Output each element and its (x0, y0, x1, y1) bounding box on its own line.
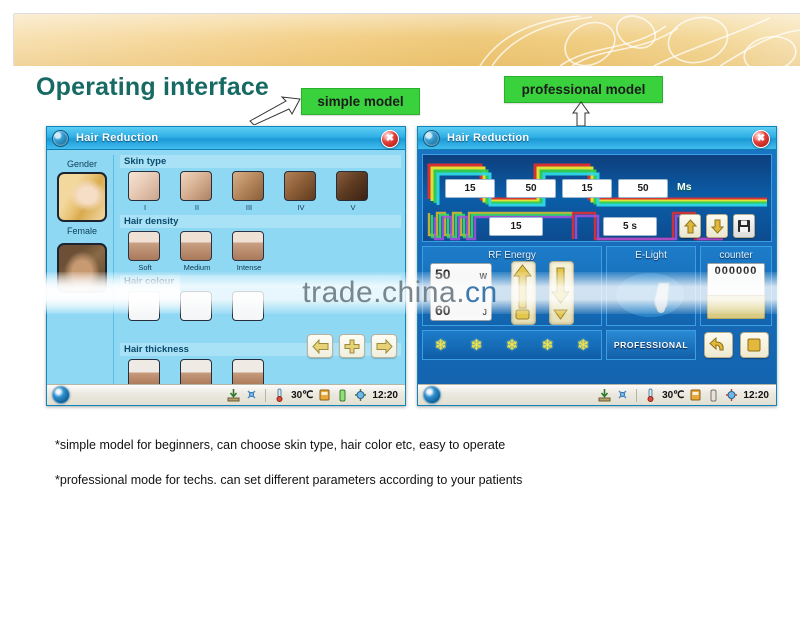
decrease-button[interactable] (706, 214, 728, 238)
skin-type-thumb-v (336, 171, 368, 201)
rf-energy-bottom-line: 60 J (435, 302, 487, 318)
undo-arrow-icon (709, 337, 727, 353)
professional-window-client: 15 50 15 50 Ms 15 5 s (418, 150, 776, 384)
description-text: *simple model for beginners, can choose … (55, 436, 655, 507)
previous-button[interactable] (307, 334, 333, 358)
close-icon[interactable]: ✖ (381, 130, 399, 148)
clock-readout: 12:20 (743, 390, 769, 401)
left-arrow-icon (312, 339, 329, 354)
arrow-to-simple-model-icon (248, 95, 304, 125)
hair-density-thumb-soft (128, 231, 160, 261)
start-orb-icon[interactable] (423, 386, 441, 404)
up-arrow-icon (684, 219, 697, 234)
header-decoration-band (14, 14, 800, 66)
pulse-unit-label: Ms (677, 181, 692, 193)
right-arrow-icon (376, 339, 393, 354)
plus-icon (344, 339, 360, 354)
skin-type-option[interactable]: IV (284, 171, 318, 212)
simple-window-client: Gender Female Skin type I II (47, 150, 405, 384)
simple-model-window: Hair Reduction ✖ Gender Female Skin type… (46, 126, 406, 406)
rf-energy-top-line: 50 W (435, 266, 487, 282)
snowflake-icon: ❄ (506, 338, 519, 353)
counter-title: counter (701, 247, 771, 261)
rf-energy-unit-bottom: J (483, 308, 487, 317)
counter-card: counter 000000 (700, 246, 772, 326)
skin-type-option[interactable]: V (336, 171, 370, 212)
simple-taskbar: 30℃ 12:20 (47, 384, 405, 405)
professional-window-titlebar: Hair Reduction ✖ (418, 127, 776, 150)
gender-label: Gender (67, 159, 97, 169)
section-heading-skin-type: Skin type (120, 155, 401, 168)
elight-card[interactable]: E-Light (606, 246, 696, 326)
ribbon-swirls-icon (440, 14, 800, 66)
counter-tray (707, 295, 765, 319)
pulse-value-2[interactable]: 50 (506, 179, 556, 198)
download-tray-icon[interactable] (227, 388, 240, 402)
hair-density-caption: Medium (180, 263, 214, 272)
repeat-value[interactable]: 15 (489, 217, 543, 236)
hair-density-option[interactable]: Intense (232, 231, 266, 272)
pulse-value-1[interactable]: 15 (445, 179, 495, 198)
skin-type-options: I II III IV V (120, 171, 401, 212)
pulse-value-4[interactable]: 50 (618, 179, 668, 198)
rf-energy-unit-top: W (479, 272, 487, 281)
network-icon[interactable] (245, 388, 258, 402)
stop-button[interactable] (740, 332, 769, 358)
bullet-simple-model: *simple model for beginners, can choose … (55, 436, 655, 455)
save-button[interactable] (733, 214, 755, 238)
callout-professional-model: professional model (504, 76, 663, 103)
temperature-readout: 30℃ (291, 390, 313, 401)
professional-system-tray: 30℃ 12:20 (598, 388, 771, 402)
start-orb-icon[interactable] (52, 386, 70, 404)
down-arrow-icon (711, 219, 724, 234)
increase-button[interactable] (679, 214, 701, 238)
rf-energy-value-top: 50 (435, 266, 451, 282)
battery-icon[interactable] (707, 388, 720, 402)
skin-type-caption: IV (284, 203, 318, 212)
gender-option-female-photo[interactable] (57, 172, 107, 222)
next-button[interactable] (371, 334, 397, 358)
skin-type-thumb-iv (284, 171, 316, 201)
hair-density-option[interactable]: Soft (128, 231, 162, 272)
skin-type-caption: III (232, 203, 266, 212)
thermometer-icon (644, 388, 657, 402)
hair-colour-option[interactable] (180, 291, 214, 321)
slider-up-arrow-icon (512, 262, 533, 322)
globe-icon (423, 130, 440, 147)
snowflake-icon: ❄ (577, 338, 590, 353)
simple-nav-buttons (307, 334, 397, 358)
elight-handpiece-icon (607, 265, 693, 323)
professional-taskbar: 30℃ 12:20 (418, 384, 776, 405)
slider-down-arrow-icon (550, 262, 571, 322)
elight-title: E-Light (607, 247, 695, 261)
page-title: Operating interface (36, 73, 269, 102)
skin-type-thumb-iii (232, 171, 264, 201)
skin-type-thumb-ii (180, 171, 212, 201)
snowflake-icon: ❄ (541, 338, 554, 353)
battery-icon[interactable] (336, 388, 349, 402)
professional-action-buttons (700, 330, 772, 360)
back-button[interactable] (704, 332, 733, 358)
tray-separator (636, 389, 637, 402)
add-button[interactable] (339, 334, 365, 358)
hair-density-thumb-intense (232, 231, 264, 261)
clock-readout: 12:20 (372, 390, 398, 401)
slide: Operating interface simple model profess… (0, 0, 800, 624)
section-heading-hair-density: Hair density (120, 215, 401, 228)
cartridge-icon[interactable] (318, 388, 331, 402)
skin-type-caption: V (336, 203, 370, 212)
snowflake-icon: ❄ (435, 338, 448, 353)
hair-density-option[interactable]: Medium (180, 231, 214, 272)
rf-energy-card: RF Energy 50 W 60 J (422, 246, 602, 326)
temperature-readout: 30℃ (662, 390, 684, 401)
thermometer-icon (273, 388, 286, 402)
simple-window-title: Hair Reduction (76, 132, 158, 144)
floppy-save-icon (737, 219, 751, 233)
snowflake-icon: ❄ (470, 338, 483, 353)
callout-simple-model: simple model (301, 88, 420, 115)
tray-separator (265, 389, 266, 402)
skin-type-option[interactable]: III (232, 171, 266, 212)
parameter-cards: RF Energy 50 W 60 J (422, 246, 772, 326)
rf-energy-value-bottom: 60 (435, 302, 451, 318)
professional-window-title: Hair Reduction (447, 132, 529, 144)
delay-value[interactable]: 5 s (603, 217, 657, 236)
hair-density-caption: Intense (232, 263, 266, 272)
hair-density-thumb-medium (180, 231, 212, 261)
pulse-waveform-panel: 15 50 15 50 Ms 15 5 s (422, 154, 772, 242)
arrow-to-professional-model-icon (571, 101, 591, 127)
hair-colour-thumb-3 (232, 291, 264, 321)
skin-type-option[interactable]: II (180, 171, 214, 212)
hair-density-options: Soft Medium Intense (120, 231, 401, 272)
gender-selector: Gender Female (51, 155, 114, 384)
rf-energy-title: RF Energy (423, 247, 601, 261)
settings-icon[interactable] (725, 388, 738, 402)
gender-option-female-label: Female (67, 226, 97, 236)
simple-system-tray: 30℃ 12:20 (227, 388, 400, 402)
professional-model-window: Hair Reduction ✖ (417, 126, 777, 406)
watermark-left-haze (0, 272, 180, 314)
skin-type-option[interactable]: I (128, 171, 162, 212)
hair-colour-option[interactable] (232, 291, 266, 321)
skin-type-caption: I (128, 203, 162, 212)
mode-button-professional[interactable]: PROFESSIONAL (606, 330, 696, 360)
cartridge-icon[interactable] (689, 388, 702, 402)
network-icon[interactable] (616, 388, 629, 402)
pulse-value-3[interactable]: 15 (562, 179, 612, 198)
rf-energy-decrease-slider[interactable] (549, 261, 574, 325)
close-icon[interactable]: ✖ (752, 130, 770, 148)
globe-icon (52, 130, 69, 147)
skin-type-caption: II (180, 203, 214, 212)
skin-type-thumb-i (128, 171, 160, 201)
stop-square-icon (746, 337, 762, 353)
bullet-professional-mode: *professional mode for techs. can set di… (55, 471, 655, 490)
rf-energy-increase-slider[interactable] (511, 261, 536, 325)
rf-energy-display[interactable]: 50 W 60 J (430, 263, 492, 321)
professional-bottom-bar: ❄ ❄ ❄ ❄ ❄ PROFESSIONAL (422, 330, 772, 360)
download-tray-icon[interactable] (598, 388, 611, 402)
settings-icon[interactable] (354, 388, 367, 402)
simple-window-titlebar: Hair Reduction ✖ (47, 127, 405, 150)
hair-density-caption: Soft (128, 263, 162, 272)
cooling-level-indicator[interactable]: ❄ ❄ ❄ ❄ ❄ (422, 330, 602, 360)
hair-colour-thumb-2 (180, 291, 212, 321)
